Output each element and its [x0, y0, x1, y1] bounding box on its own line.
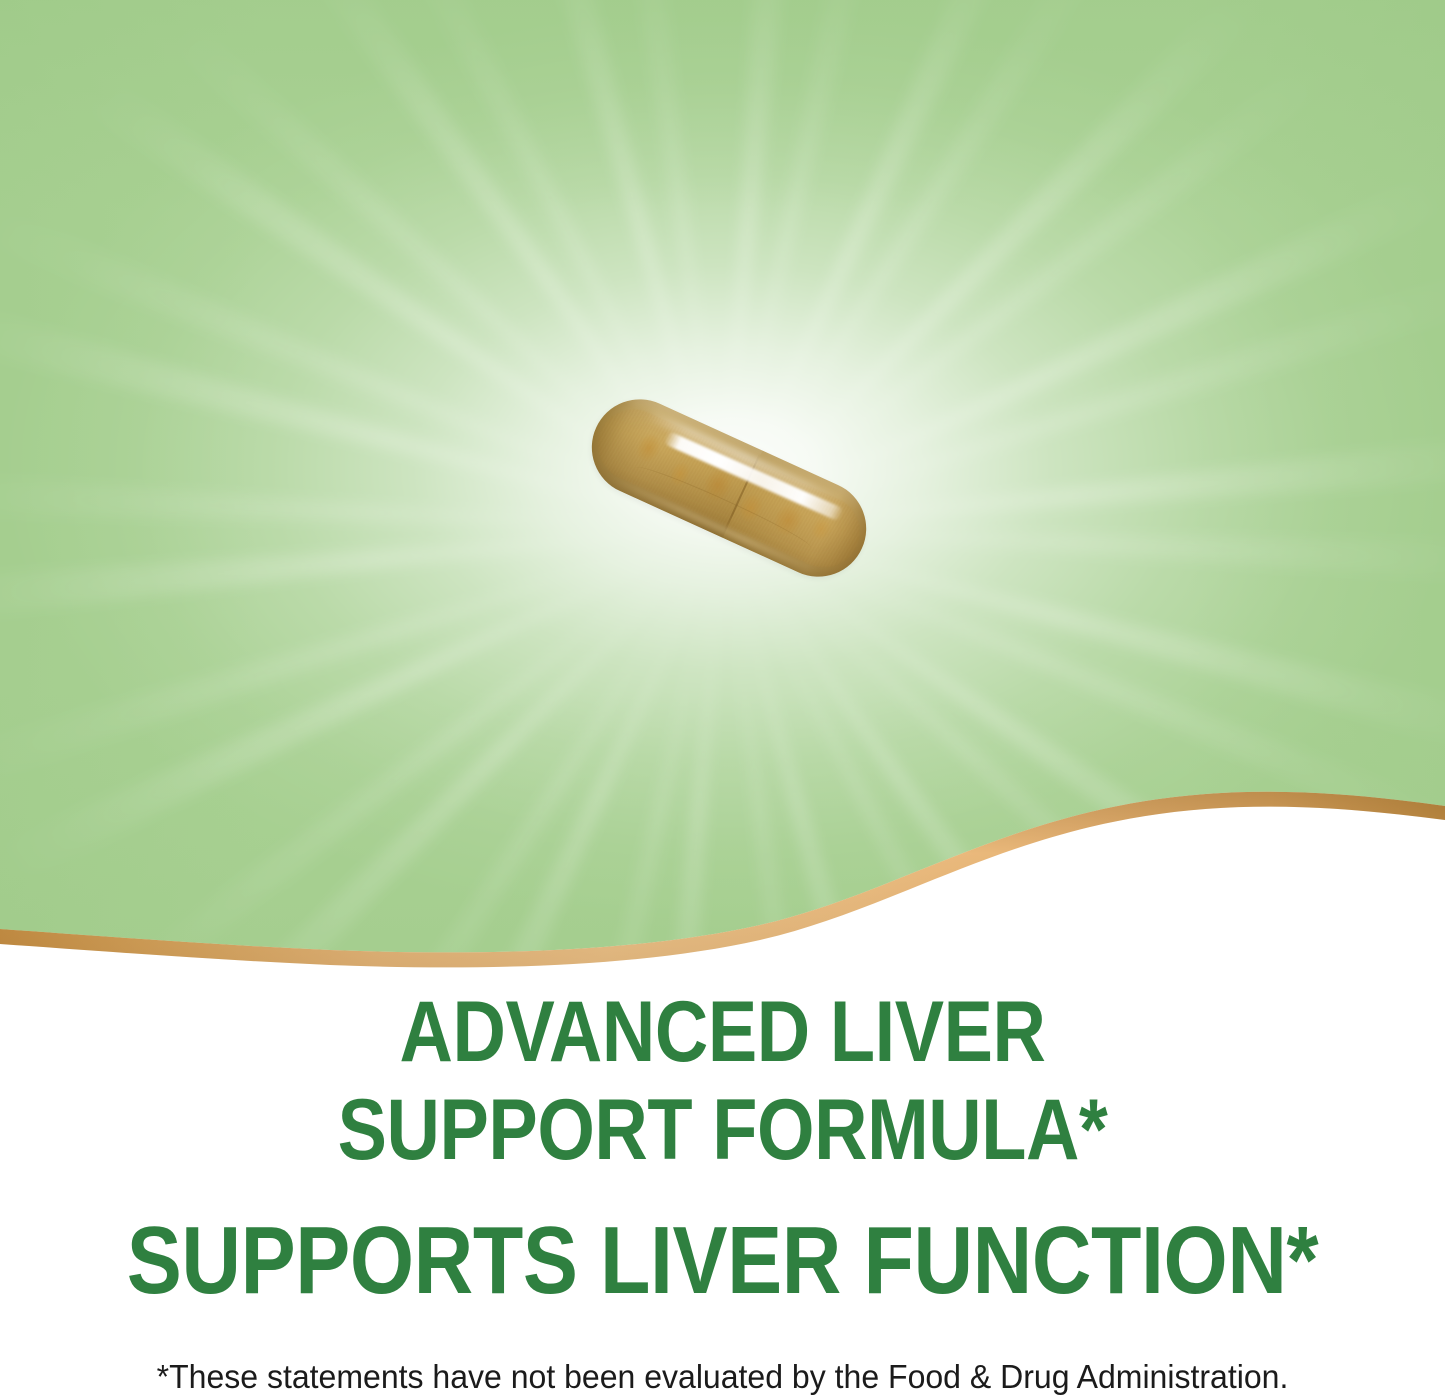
fda-disclaimer: *These statements have not been evaluate… — [22, 1309, 1424, 1398]
headline-line-3: SUPPORTS LIVER FUNCTION* — [101, 1173, 1344, 1309]
headline-line-1: ADVANCED LIVER — [101, 975, 1344, 1075]
capsule-image — [575, 388, 880, 578]
product-marketing-panel: ADVANCED LIVER SUPPORT FORMULA* SUPPORTS… — [0, 0, 1445, 1398]
marketing-copy: ADVANCED LIVER SUPPORT FORMULA* SUPPORTS… — [0, 975, 1445, 1398]
disclaimer-line-1: *These statements have not been evaluate… — [22, 1355, 1424, 1398]
capsule-shell — [576, 384, 882, 592]
headline-line-2: SUPPORT FORMULA* — [101, 1075, 1344, 1173]
